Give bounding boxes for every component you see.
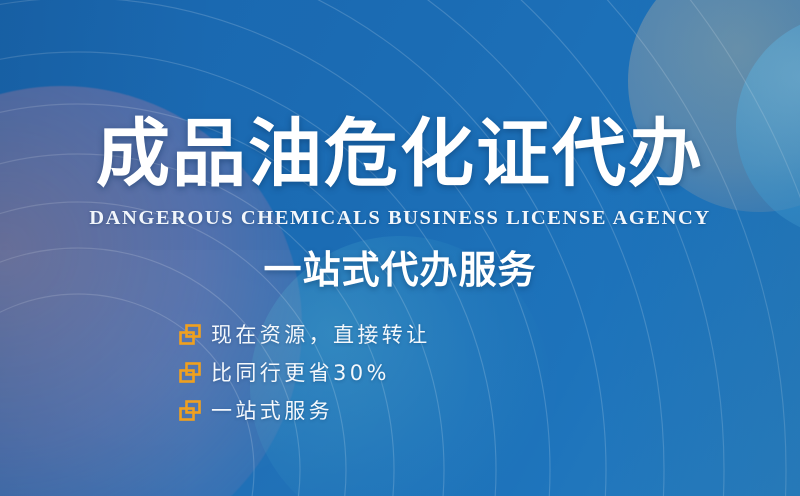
feature-bullet-item: 一站式服务	[178, 392, 608, 430]
banner-title-english: DANGEROUS CHEMICALS BUSINESS LICENSE AGE…	[0, 206, 800, 230]
feature-bullet-text: 一站式服务	[211, 398, 333, 424]
overlapping-squares-icon	[178, 399, 202, 423]
banner-subtitle-chinese: 一站式代办服务	[0, 246, 800, 294]
promo-banner: 成品油危化证代办 DANGEROUS CHEMICALS BUSINESS LI…	[0, 0, 800, 496]
feature-bullet-item: 现在资源，直接转让	[178, 316, 608, 354]
feature-bullet-text: 比同行更省30%	[211, 360, 390, 386]
overlapping-squares-icon	[178, 361, 202, 385]
feature-bullet-text: 现在资源，直接转让	[211, 322, 431, 348]
overlapping-squares-icon	[178, 323, 202, 347]
feature-bullet-list: 现在资源，直接转让 比同行更省30% 一站式	[178, 316, 608, 430]
banner-content: 成品油危化证代办 DANGEROUS CHEMICALS BUSINESS LI…	[0, 0, 800, 496]
banner-title-chinese: 成品油危化证代办	[0, 114, 800, 194]
feature-bullet-item: 比同行更省30%	[178, 354, 608, 392]
